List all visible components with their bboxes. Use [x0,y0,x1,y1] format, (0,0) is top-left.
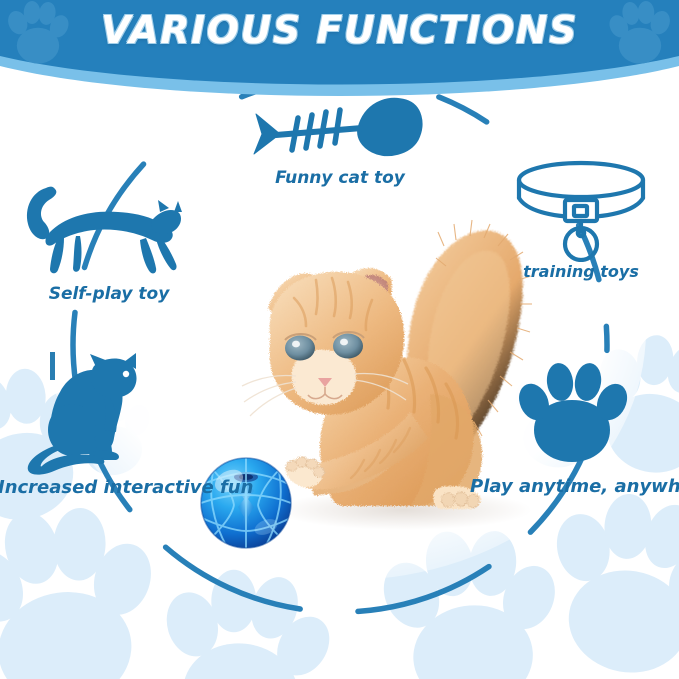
node-label-increased-interactive-fun: Increased interactive fun [0,479,198,497]
promo-graphic: VARIOUS FUNCTIONS [0,0,679,679]
fish-bone-icon [240,88,440,168]
feature-node-funny-cat-toy[interactable]: Funny cat toy [240,88,440,187]
node-label-training-toys: training toys [496,264,666,280]
collar-icon [496,152,666,262]
node-label-funny-cat-toy: Funny cat toy [240,170,440,187]
blue-ball-toy [198,455,294,551]
sitting-cat-icon [0,352,198,477]
feature-node-self-play-toy[interactable]: Self-play toy [14,182,204,303]
feature-node-play-anytime-anywhere[interactable]: Play anytime, anywhere [470,362,675,496]
feature-node-increased-interactive-fun[interactable]: Increased interactive fun [0,352,198,497]
node-label-self-play-toy: Self-play toy [14,286,204,303]
page-title: VARIOUS FUNCTIONS [0,8,679,52]
feature-node-training-toys[interactable]: training toys [496,152,666,280]
node-label-play-anytime-anywhere: Play anytime, anywhere [470,478,675,496]
walking-cat-icon [14,182,204,282]
paw-print-icon [470,362,675,472]
